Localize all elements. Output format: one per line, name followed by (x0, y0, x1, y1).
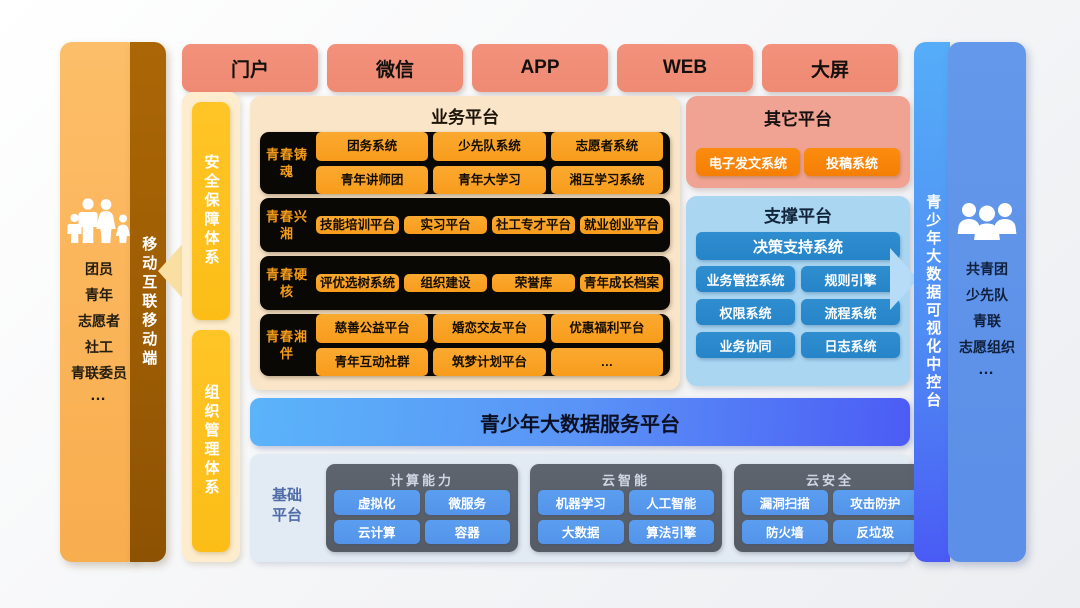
infra-chip[interactable]: 机器学习 (538, 490, 624, 515)
business-row-label: 青春兴湘 (260, 208, 314, 242)
other-platform-chip-label: 电子发文系统 (709, 153, 787, 172)
channel-tab-web[interactable]: WEB (617, 44, 753, 92)
support-chip-ruleengine[interactable]: 规则引擎 (801, 266, 900, 292)
list-item: 共青团 (948, 256, 1026, 282)
business-chip[interactable]: 就业创业平台 (580, 216, 663, 234)
support-chip-label: 规则引擎 (824, 270, 876, 289)
infra-chip[interactable]: 云计算 (334, 520, 420, 545)
channel-tab-portal[interactable]: 门户 (182, 44, 318, 92)
governance-bar-organization[interactable]: 组织管理体系 (192, 330, 230, 552)
support-chip-workflow[interactable]: 流程系统 (801, 299, 900, 325)
infra-group-cloud-ai: 云智能 机器学习 人工智能 大数据 算法引擎 (530, 464, 722, 552)
business-chip[interactable]: 青年互动社群 (316, 348, 428, 377)
support-chip-label: 权限系统 (719, 303, 771, 322)
list-item: 少先队 (948, 282, 1026, 308)
business-row-xingxiang: 青春兴湘 技能培训平台 实习平台 社工专才平台 就业创业平台 (260, 198, 670, 252)
business-chip[interactable]: 青年成长档案 (580, 274, 663, 292)
big-data-service-banner-title: 青少年大数据服务平台 (480, 408, 680, 437)
business-row-label: 青春硬核 (260, 266, 314, 300)
channel-tab-label: APP (520, 57, 559, 79)
business-col: 志愿者系统 湘互学习系统 (551, 132, 663, 194)
left-actor-list: 团员 青年 志愿者 社工 青联委员 … (60, 256, 138, 406)
visualization-console-strip: 青少年大数据可视化中控台 (914, 42, 950, 562)
business-chip[interactable]: 湘互学习系统 (551, 166, 663, 195)
architecture-diagram: 移动互联移动端 团员 青年 志愿者 社工 青联委员 … 门户 微信 (0, 0, 1080, 608)
people-group-icon (956, 198, 1018, 242)
list-item-more: … (948, 360, 1026, 380)
channel-tab-bigscreen[interactable]: 大屏 (762, 44, 898, 92)
infra-chip[interactable]: 人工智能 (629, 490, 715, 515)
infra-chip[interactable]: 反垃圾 (833, 520, 919, 545)
mobile-internet-strip-label: 移动互联移动端 (140, 236, 157, 369)
business-col: 团务系统 青年讲师团 (316, 132, 428, 194)
list-item: 志愿者 (60, 308, 138, 334)
business-chip[interactable]: 荣誉库 (492, 274, 575, 292)
business-row-label: 青春铸魂 (260, 146, 314, 180)
family-group-icon (66, 196, 132, 244)
business-col: 少先队系统 青年大学习 (433, 132, 545, 194)
business-chip[interactable]: 评优选树系统 (316, 274, 399, 292)
support-chip-label: 流程系统 (824, 303, 876, 322)
business-chip[interactable]: 实习平台 (404, 216, 487, 234)
business-chip[interactable]: 优惠福利平台 (551, 314, 663, 343)
business-col: 慈善公益平台 青年互动社群 (316, 314, 428, 376)
business-col: 优惠福利平台 … (551, 314, 663, 376)
channel-tab-wechat[interactable]: 微信 (327, 44, 463, 92)
business-chip[interactable]: 技能培训平台 (316, 216, 399, 234)
infra-chip[interactable]: 虚拟化 (334, 490, 420, 515)
business-chip[interactable]: 组织建设 (404, 274, 487, 292)
support-chip-label: 业务管控系统 (706, 270, 784, 289)
business-chip[interactable]: 社工专才平台 (492, 216, 575, 234)
visualization-console-strip-label: 青少年大数据可视化中控台 (924, 194, 941, 410)
infrastructure-label-line2: 平台 (256, 506, 318, 526)
infra-chip[interactable]: 容器 (425, 520, 511, 545)
business-col: 婚恋交友平台 筑梦计划平台 (433, 314, 545, 376)
business-chip[interactable]: 志愿者系统 (551, 132, 663, 161)
infrastructure-label-line1: 基础 (256, 486, 318, 506)
infra-group-compute: 计算能力 虚拟化 微服务 云计算 容器 (326, 464, 518, 552)
other-platform-chip-label: 投稿系统 (826, 153, 878, 172)
governance-bar-security[interactable]: 安全保障体系 (192, 102, 230, 320)
infra-group-title: 云智能 (530, 470, 722, 488)
business-chip[interactable]: 少先队系统 (433, 132, 545, 161)
list-item: 青联委员 (60, 360, 138, 386)
business-chip[interactable]: … (551, 348, 663, 377)
infra-chip[interactable]: 漏洞扫描 (742, 490, 828, 515)
big-data-service-banner[interactable]: 青少年大数据服务平台 (250, 398, 910, 446)
right-org-list: 共青团 少先队 青联 志愿组织 … (948, 256, 1026, 380)
other-platform-title: 其它平台 (686, 104, 910, 130)
business-row-yinghe: 青春硬核 评优选树系统 组织建设 荣誉库 青年成长档案 (260, 256, 670, 310)
business-row-label: 青春湘伴 (260, 328, 314, 362)
support-chip-logging[interactable]: 日志系统 (801, 332, 900, 358)
business-row-zhuhun: 青春铸魂 团务系统 青年讲师团 少先队系统 青年大学习 志愿者系统 湘互学习系统 (260, 132, 670, 194)
support-chip-label: 业务协同 (719, 336, 771, 355)
infra-group-title: 计算能力 (326, 470, 518, 488)
support-chip-label: 决策支持系统 (753, 236, 843, 257)
business-row-xiangban: 青春湘伴 慈善公益平台 青年互动社群 婚恋交友平台 筑梦计划平台 优惠福利平台 … (260, 314, 670, 376)
support-chip-label: 日志系统 (824, 336, 876, 355)
channel-tab-label: 大屏 (811, 55, 849, 82)
channel-tab-label: WEB (663, 57, 707, 79)
business-chip[interactable]: 筑梦计划平台 (433, 348, 545, 377)
business-chip[interactable]: 青年大学习 (433, 166, 545, 195)
list-item: 志愿组织 (948, 334, 1026, 360)
business-chip[interactable]: 慈善公益平台 (316, 314, 428, 343)
infra-chip[interactable]: 微服务 (425, 490, 511, 515)
business-chip[interactable]: 团务系统 (316, 132, 428, 161)
governance-bar-label: 组织管理体系 (201, 384, 222, 498)
support-chip-bizcontrol[interactable]: 业务管控系统 (696, 266, 795, 292)
governance-bar-label: 安全保障体系 (201, 154, 222, 268)
other-platform-chip-edoc[interactable]: 电子发文系统 (696, 148, 800, 176)
list-item: 青年 (60, 282, 138, 308)
infra-chip[interactable]: 大数据 (538, 520, 624, 545)
infra-chip[interactable]: 算法引擎 (629, 520, 715, 545)
list-item: 团员 (60, 256, 138, 282)
business-chip[interactable]: 青年讲师团 (316, 166, 428, 195)
support-chip-collaboration[interactable]: 业务协同 (696, 332, 795, 358)
list-item: 青联 (948, 308, 1026, 334)
list-item-more: … (60, 386, 138, 406)
channel-tab-label: 微信 (376, 55, 414, 82)
support-chip-decision[interactable]: 决策支持系统 (696, 232, 900, 260)
business-chip[interactable]: 婚恋交友平台 (433, 314, 545, 343)
support-platform-title: 支撑平台 (686, 200, 910, 228)
infra-chip[interactable]: 攻击防护 (833, 490, 919, 515)
infra-chip[interactable]: 防火墙 (742, 520, 828, 545)
infra-group-title: 云安全 (734, 470, 926, 488)
other-platform-chip-submission[interactable]: 投稿系统 (804, 148, 900, 176)
business-platform-title: 业务平台 (250, 100, 680, 130)
infrastructure-label: 基础 平台 (256, 486, 318, 526)
channel-tab-label: 门户 (231, 55, 269, 82)
support-chip-permission[interactable]: 权限系统 (696, 299, 795, 325)
infra-group-cloud-security: 云安全 漏洞扫描 攻击防护 防火墙 反垃圾 (734, 464, 926, 552)
channel-tab-app[interactable]: APP (472, 44, 608, 92)
list-item: 社工 (60, 334, 138, 360)
